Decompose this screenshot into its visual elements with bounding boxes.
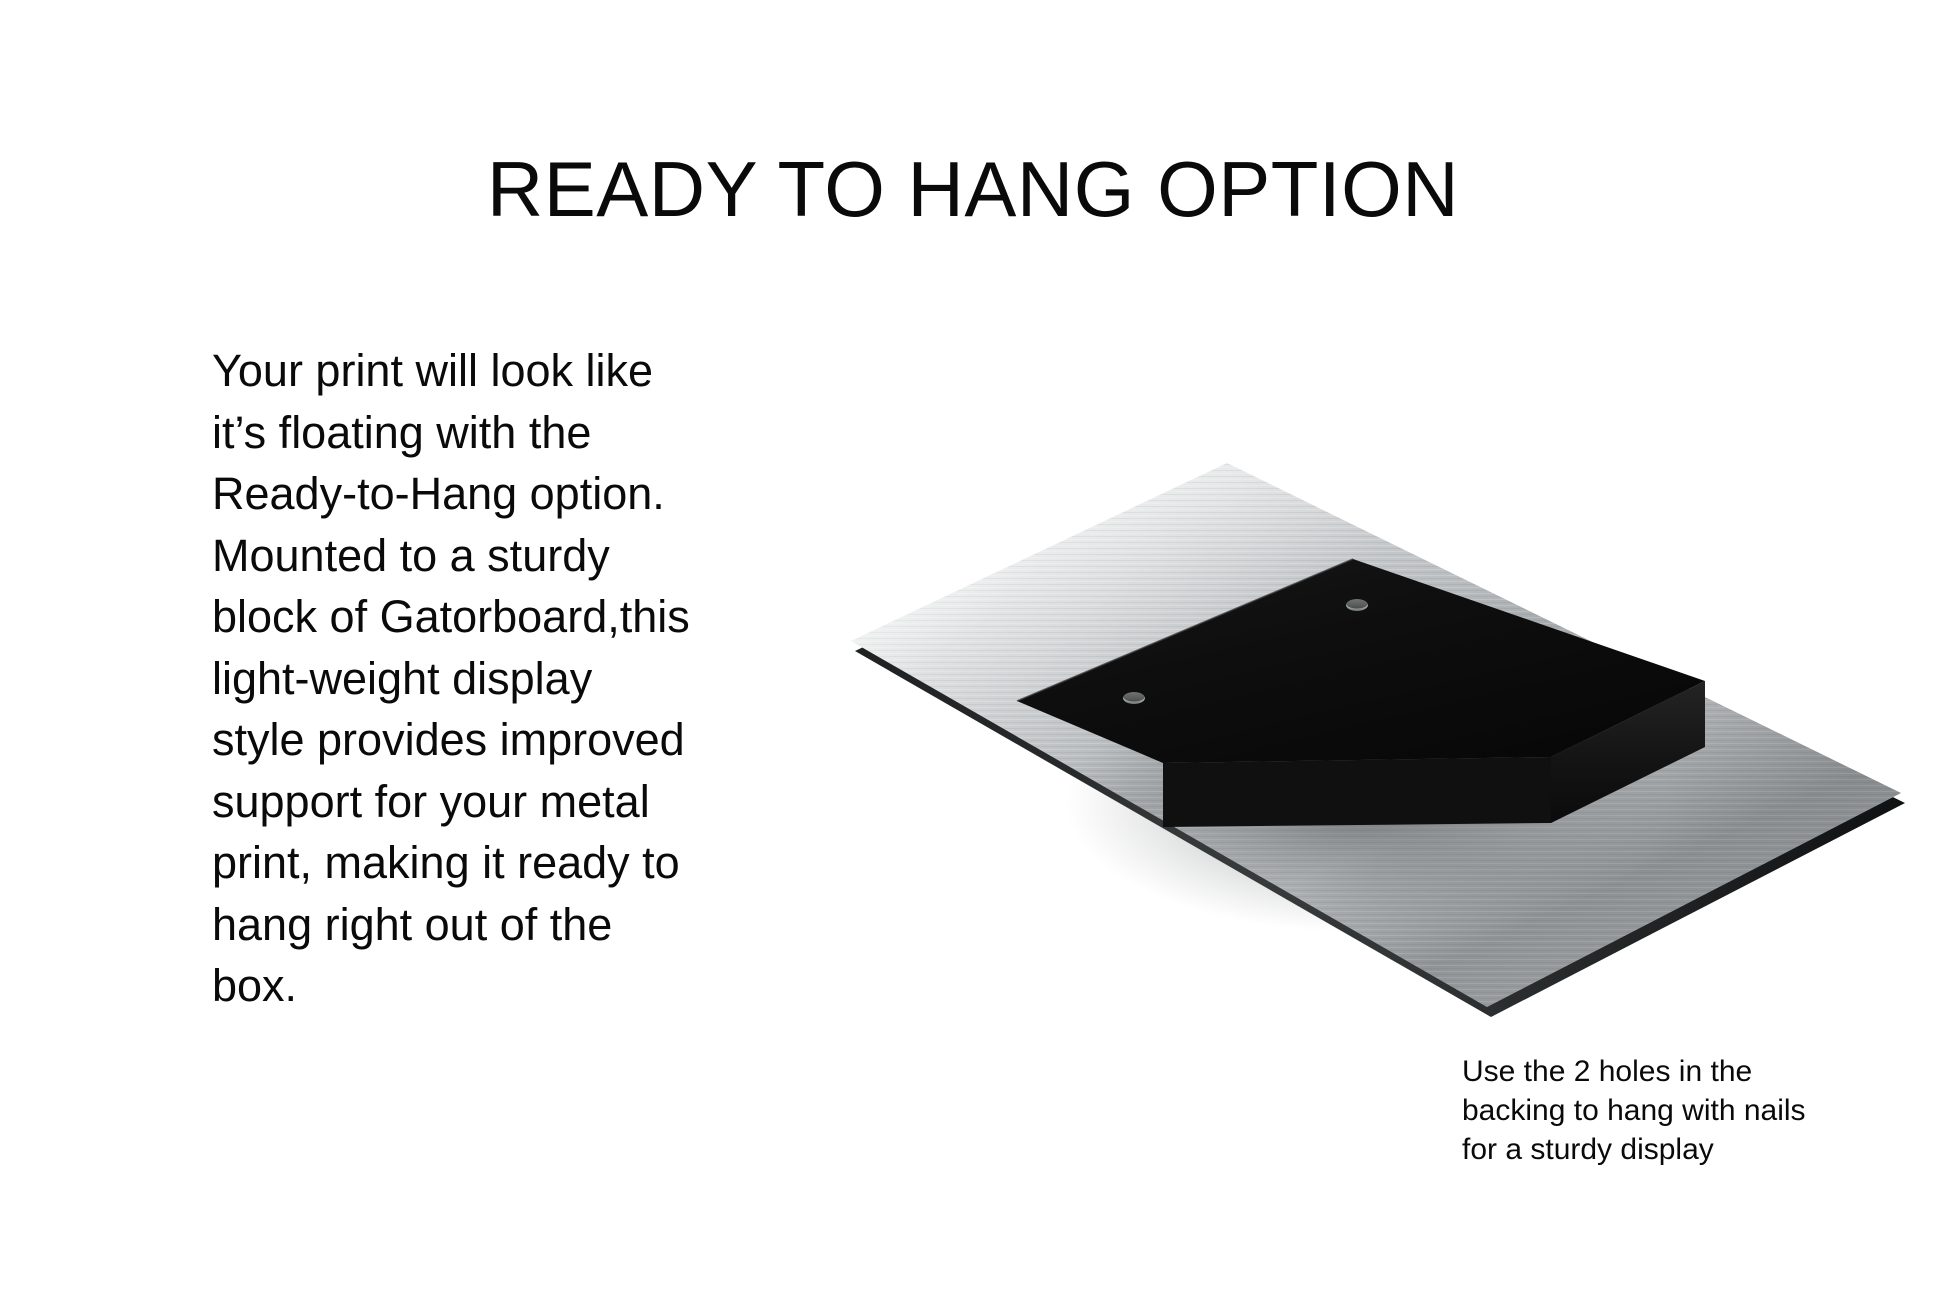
caption-line: backing to hang with nails [1462, 1091, 1862, 1130]
hanging-hole-upper [1346, 599, 1368, 612]
description-line: it’s floating with the [212, 402, 782, 464]
hanging-hole-lower [1123, 692, 1145, 705]
description-line: block of Gatorboard,this [212, 586, 782, 648]
description-line: box. [212, 955, 782, 1017]
description-line: Ready-to-Hang option. [212, 463, 782, 525]
description-line: light-weight display [212, 648, 782, 710]
description-line: support for your metal [212, 771, 782, 833]
page-title: READY TO HANG OPTION [0, 144, 1946, 234]
description-paragraph: Your print will look like it’s floating … [212, 340, 782, 1017]
description-line: hang right out of the [212, 894, 782, 956]
caption-line: Use the 2 holes in the [1462, 1052, 1862, 1091]
description-line: style provides improved [212, 709, 782, 771]
metal-print-illustration [845, 455, 1905, 1015]
description-line: Mounted to a sturdy [212, 525, 782, 587]
product-photo [845, 455, 1905, 1015]
description-line: Your print will look like [212, 340, 782, 402]
gatorboard-front-face [1163, 757, 1551, 827]
photo-caption: Use the 2 holes in the backing to hang w… [1462, 1052, 1862, 1169]
description-line: print, making it ready to [212, 832, 782, 894]
caption-line: for a sturdy display [1462, 1130, 1862, 1169]
